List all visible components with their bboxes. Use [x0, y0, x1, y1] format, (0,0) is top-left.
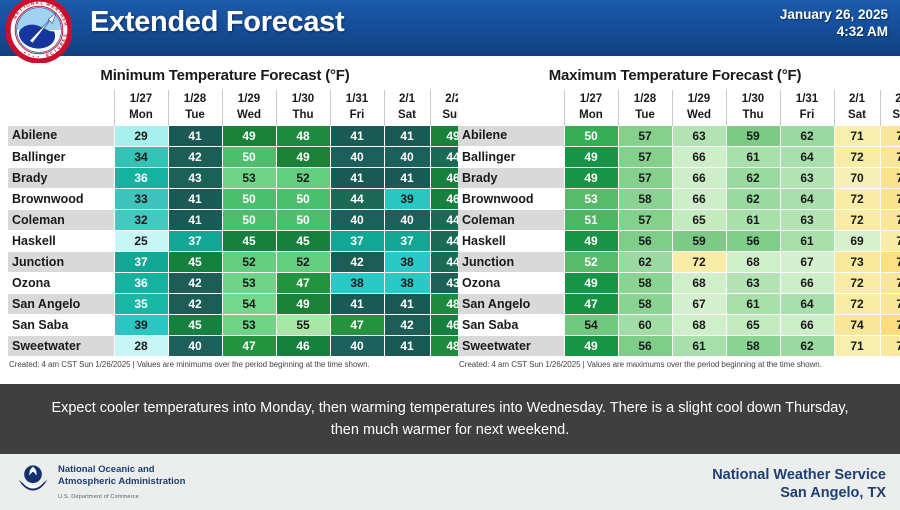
- temperature-cell: 49: [276, 294, 330, 315]
- temperature-cell: 66: [672, 147, 726, 168]
- temperature-cell: 56: [618, 231, 672, 252]
- column-header-day-1: Tue: [168, 107, 222, 126]
- temperature-cell: 68: [726, 252, 780, 273]
- temperature-cell: 25: [114, 231, 168, 252]
- temperature-cell: 45: [276, 231, 330, 252]
- panel-maximum-temperature: Maximum Temperature Forecast (°F) 1/271/…: [450, 58, 900, 384]
- column-header-location: [458, 90, 564, 107]
- temperature-cell: 42: [168, 273, 222, 294]
- table-row: Sweetwater49566158627173: [458, 336, 900, 357]
- forecast-summary-text: Expect cooler temperatures into Monday, …: [40, 397, 860, 441]
- temperature-cell: 75: [880, 294, 900, 315]
- temperature-cell: 73: [880, 336, 900, 357]
- temperature-cell: 72: [834, 147, 880, 168]
- temperature-cell: 53: [222, 273, 276, 294]
- column-header-location-spacer: [8, 107, 114, 126]
- temperature-cell: 63: [780, 168, 834, 189]
- temperature-cell: 37: [330, 231, 384, 252]
- temperature-cell: 75: [880, 273, 900, 294]
- temperature-cell: 41: [168, 210, 222, 231]
- nws-office-line-2: San Angelo, TX: [712, 484, 886, 502]
- temperature-cell: 41: [384, 126, 430, 147]
- temperature-cell: 72: [834, 189, 880, 210]
- column-header-day-4: Fri: [780, 107, 834, 126]
- temperature-cell: 42: [384, 315, 430, 336]
- temperature-cell: 64: [780, 147, 834, 168]
- table-row: Junction52627268677378: [458, 252, 900, 273]
- noaa-line-1: National Oceanic and: [58, 464, 185, 476]
- temperature-cell: 47: [564, 294, 618, 315]
- table-row: Abilene50576359627175: [458, 126, 900, 147]
- location-name: Ozona: [8, 273, 114, 294]
- temperature-cell: 69: [834, 231, 880, 252]
- temperature-cell: 49: [564, 168, 618, 189]
- temperature-cell: 79: [880, 315, 900, 336]
- panel-minimum-temperature: Minimum Temperature Forecast (°F) 1/271/…: [0, 58, 450, 384]
- temperature-cell: 29: [114, 126, 168, 147]
- column-header-day-3: Thu: [726, 107, 780, 126]
- temperature-cell: 41: [330, 294, 384, 315]
- table-row: Brady36435352414146: [8, 168, 476, 189]
- temperature-cell: 36: [114, 168, 168, 189]
- panel-title-maximum: Maximum Temperature Forecast (°F): [458, 67, 892, 84]
- temperature-cell: 68: [672, 273, 726, 294]
- temperature-cell: 76: [880, 189, 900, 210]
- table-row: San Saba39455355474246: [8, 315, 476, 336]
- column-header-day-0: Mon: [564, 107, 618, 126]
- column-header-location: [8, 90, 114, 107]
- temperature-cell: 49: [564, 231, 618, 252]
- column-header-date-5: 2/1: [384, 90, 430, 107]
- temperature-cell: 40: [168, 336, 222, 357]
- temperature-cell: 63: [726, 273, 780, 294]
- temperature-cell: 52: [276, 168, 330, 189]
- temperature-cell: 40: [384, 147, 430, 168]
- noaa-line-2: Atmospheric Administration: [58, 476, 185, 488]
- column-header-day-1: Tue: [618, 107, 672, 126]
- temperature-cell: 40: [330, 147, 384, 168]
- temperature-cell: 66: [780, 315, 834, 336]
- column-header-day-5: Sat: [384, 107, 430, 126]
- temperature-cell: 32: [114, 210, 168, 231]
- table-row: Ballinger34425049404044: [8, 147, 476, 168]
- temperature-cell: 40: [330, 210, 384, 231]
- table-head-minimum: 1/271/281/291/301/312/12/2 MonTueWedThuF…: [8, 90, 476, 126]
- temperature-cell: 62: [780, 126, 834, 147]
- location-name: Ballinger: [458, 147, 564, 168]
- temperature-cell: 76: [880, 168, 900, 189]
- temperature-cell: 72: [834, 273, 880, 294]
- temperature-cell: 38: [384, 252, 430, 273]
- temperature-cell: 37: [384, 231, 430, 252]
- temperature-cell: 47: [330, 315, 384, 336]
- temperature-cell: 58: [618, 189, 672, 210]
- temperature-cell: 62: [726, 168, 780, 189]
- nws-office-branding: National Weather Service San Angelo, TX: [712, 466, 886, 502]
- table-row: Abilene29414948414149: [8, 126, 476, 147]
- temperature-cell: 53: [222, 315, 276, 336]
- temperature-cell: 44: [330, 189, 384, 210]
- temperature-cell: 78: [880, 252, 900, 273]
- temperature-cell: 39: [114, 315, 168, 336]
- temperature-cell: 40: [384, 210, 430, 231]
- temperature-cell: 71: [834, 336, 880, 357]
- forecast-panels: Minimum Temperature Forecast (°F) 1/271/…: [0, 58, 900, 384]
- column-header-date-0: 1/27: [564, 90, 618, 107]
- temperature-cell: 63: [780, 210, 834, 231]
- temperature-cell: 56: [726, 231, 780, 252]
- nws-seal-icon: N A T I O N A L W E A T H E R S E R V I …: [6, 0, 72, 63]
- temperature-cell: 73: [834, 252, 880, 273]
- temperature-cell: 58: [618, 294, 672, 315]
- temperature-cell: 75: [880, 147, 900, 168]
- table-row: Brownwood53586662647276: [458, 189, 900, 210]
- temperature-cell: 49: [222, 126, 276, 147]
- temperature-cell: 57: [618, 147, 672, 168]
- column-header-date-6: 2/2: [880, 90, 900, 107]
- table-row: Ozona49586863667275: [458, 273, 900, 294]
- temperature-cell: 37: [114, 252, 168, 273]
- temperature-cell: 65: [672, 210, 726, 231]
- temperature-cell: 41: [330, 126, 384, 147]
- temperature-cell: 62: [726, 189, 780, 210]
- temperature-cell: 45: [168, 252, 222, 273]
- location-name: Brady: [458, 168, 564, 189]
- table-row: Ballinger49576661647275: [458, 147, 900, 168]
- temperature-cell: 58: [726, 336, 780, 357]
- temperature-cell: 50: [276, 210, 330, 231]
- location-name: Coleman: [458, 210, 564, 231]
- header-row-days: MonTueWedThuFriSatSun: [458, 107, 900, 126]
- temperature-cell: 50: [222, 147, 276, 168]
- temperature-cell: 45: [222, 231, 276, 252]
- column-header-day-2: Wed: [222, 107, 276, 126]
- column-header-date-2: 1/29: [222, 90, 276, 107]
- column-header-date-3: 1/30: [276, 90, 330, 107]
- temperature-cell: 56: [618, 336, 672, 357]
- table-row: Sweetwater28404746404148: [8, 336, 476, 357]
- temperature-cell: 61: [726, 210, 780, 231]
- table-row: Coleman51576561637275: [458, 210, 900, 231]
- temperature-cell: 28: [114, 336, 168, 357]
- location-name: Brownwood: [458, 189, 564, 210]
- location-name: Junction: [8, 252, 114, 273]
- header-row-days: MonTueWedThuFriSatSun: [8, 107, 476, 126]
- temperature-cell: 57: [618, 210, 672, 231]
- temperature-cell: 68: [672, 315, 726, 336]
- temperature-cell: 53: [222, 168, 276, 189]
- footnote-minimum: Created: 4 am CST Sun 1/26/2025 | Values…: [8, 360, 442, 369]
- table-row: Brownwood33415050443946: [8, 189, 476, 210]
- header-row-dates: 1/271/281/291/301/312/12/2: [458, 90, 900, 107]
- table-minimum-temperature: 1/271/281/291/301/312/12/2 MonTueWedThuF…: [8, 90, 477, 357]
- temperature-cell: 43: [168, 168, 222, 189]
- temperature-cell: 54: [564, 315, 618, 336]
- noaa-text-block: National Oceanic and Atmospheric Adminis…: [58, 462, 185, 503]
- temperature-cell: 49: [564, 336, 618, 357]
- table-head-maximum: 1/271/281/291/301/312/12/2 MonTueWedThuF…: [458, 90, 900, 126]
- temperature-cell: 55: [276, 315, 330, 336]
- temperature-cell: 53: [564, 189, 618, 210]
- table-row: Brady49576662637076: [458, 168, 900, 189]
- temperature-cell: 49: [564, 147, 618, 168]
- location-name: Brownwood: [8, 189, 114, 210]
- temperature-cell: 50: [276, 189, 330, 210]
- temperature-cell: 33: [114, 189, 168, 210]
- temperature-cell: 47: [222, 336, 276, 357]
- temperature-cell: 74: [834, 315, 880, 336]
- location-name: Ozona: [458, 273, 564, 294]
- temperature-cell: 52: [222, 252, 276, 273]
- temperature-cell: 66: [672, 189, 726, 210]
- table-row: San Saba54606865667479: [458, 315, 900, 336]
- temperature-cell: 41: [384, 336, 430, 357]
- table-row: Junction37455252423844: [8, 252, 476, 273]
- location-name: Haskell: [458, 231, 564, 252]
- temperature-cell: 42: [168, 294, 222, 315]
- temperature-cell: 41: [384, 168, 430, 189]
- temperature-cell: 63: [672, 126, 726, 147]
- location-name: Sweetwater: [458, 336, 564, 357]
- temperature-cell: 67: [672, 294, 726, 315]
- temperature-cell: 42: [330, 252, 384, 273]
- header-row-dates: 1/271/281/291/301/312/12/2: [8, 90, 476, 107]
- temperature-cell: 66: [672, 168, 726, 189]
- temperature-cell: 50: [564, 126, 618, 147]
- temperature-cell: 52: [276, 252, 330, 273]
- temperature-cell: 72: [880, 231, 900, 252]
- temperature-cell: 51: [564, 210, 618, 231]
- table-body-maximum: Abilene50576359627175Ballinger4957666164…: [458, 126, 900, 357]
- temperature-cell: 75: [880, 126, 900, 147]
- temperature-cell: 38: [330, 273, 384, 294]
- column-header-date-5: 2/1: [834, 90, 880, 107]
- noaa-branding: National Oceanic and Atmospheric Adminis…: [16, 462, 185, 503]
- temperature-cell: 65: [726, 315, 780, 336]
- temperature-cell: 39: [384, 189, 430, 210]
- panel-title-minimum: Minimum Temperature Forecast (°F): [8, 67, 442, 84]
- temperature-cell: 54: [222, 294, 276, 315]
- table-row: Haskell25374545373744: [8, 231, 476, 252]
- forecast-summary-bar: Expect cooler temperatures into Monday, …: [0, 384, 900, 454]
- temperature-cell: 61: [726, 294, 780, 315]
- temperature-cell: 52: [564, 252, 618, 273]
- temperature-cell: 71: [834, 126, 880, 147]
- temperature-cell: 41: [168, 126, 222, 147]
- location-name: Abilene: [8, 126, 114, 147]
- column-header-location-spacer: [458, 107, 564, 126]
- header-time-text: 4:32 AM: [780, 23, 888, 40]
- temperature-cell: 36: [114, 273, 168, 294]
- temperature-cell: 59: [672, 231, 726, 252]
- temperature-cell: 57: [618, 168, 672, 189]
- table-row: Ozona36425347383843: [8, 273, 476, 294]
- temperature-cell: 64: [780, 189, 834, 210]
- table-maximum-temperature: 1/271/281/291/301/312/12/2 MonTueWedThuF…: [458, 90, 900, 357]
- location-name: San Saba: [458, 315, 564, 336]
- temperature-cell: 42: [168, 147, 222, 168]
- column-header-date-3: 1/30: [726, 90, 780, 107]
- table-row: San Angelo47586761647275: [458, 294, 900, 315]
- column-header-day-0: Mon: [114, 107, 168, 126]
- temperature-cell: 41: [168, 189, 222, 210]
- temperature-cell: 62: [618, 252, 672, 273]
- table-body-minimum: Abilene29414948414149Ballinger3442504940…: [8, 126, 476, 357]
- page-footer: National Oceanic and Atmospheric Adminis…: [0, 454, 900, 510]
- temperature-cell: 57: [618, 126, 672, 147]
- column-header-day-3: Thu: [276, 107, 330, 126]
- column-header-day-4: Fri: [330, 107, 384, 126]
- location-name: San Angelo: [8, 294, 114, 315]
- temperature-cell: 41: [384, 294, 430, 315]
- header-timestamp: January 26, 2025 4:32 AM: [780, 6, 888, 40]
- temperature-cell: 35: [114, 294, 168, 315]
- column-header-day-6: Sun: [880, 107, 900, 126]
- temperature-cell: 49: [276, 147, 330, 168]
- location-name: Coleman: [8, 210, 114, 231]
- location-name: Brady: [8, 168, 114, 189]
- temperature-cell: 72: [834, 294, 880, 315]
- column-header-date-0: 1/27: [114, 90, 168, 107]
- location-name: Sweetwater: [8, 336, 114, 357]
- location-name: Junction: [458, 252, 564, 273]
- header-date-text: January 26, 2025: [780, 6, 888, 23]
- temperature-cell: 38: [384, 273, 430, 294]
- column-header-date-2: 1/29: [672, 90, 726, 107]
- location-name: Ballinger: [8, 147, 114, 168]
- location-name: Abilene: [458, 126, 564, 147]
- location-name: San Angelo: [458, 294, 564, 315]
- footnote-maximum: Created: 4 am CST Sun 1/26/2025 | Values…: [458, 360, 892, 369]
- location-name: Haskell: [8, 231, 114, 252]
- temperature-cell: 66: [780, 273, 834, 294]
- temperature-cell: 60: [618, 315, 672, 336]
- temperature-cell: 58: [618, 273, 672, 294]
- noaa-subline: U.S. Department of Commerce: [58, 488, 185, 503]
- temperature-cell: 62: [780, 336, 834, 357]
- temperature-cell: 48: [276, 126, 330, 147]
- temperature-cell: 50: [222, 189, 276, 210]
- location-name: San Saba: [8, 315, 114, 336]
- temperature-cell: 34: [114, 147, 168, 168]
- temperature-cell: 72: [834, 210, 880, 231]
- nws-office-line-1: National Weather Service: [712, 466, 886, 484]
- temperature-cell: 47: [276, 273, 330, 294]
- temperature-cell: 61: [780, 231, 834, 252]
- temperature-cell: 59: [726, 126, 780, 147]
- temperature-cell: 70: [834, 168, 880, 189]
- column-header-date-1: 1/28: [618, 90, 672, 107]
- page-title: Extended Forecast: [90, 6, 344, 39]
- table-row: Haskell49565956616972: [458, 231, 900, 252]
- temperature-cell: 64: [780, 294, 834, 315]
- temperature-cell: 46: [276, 336, 330, 357]
- temperature-cell: 72: [672, 252, 726, 273]
- temperature-cell: 41: [330, 168, 384, 189]
- column-header-day-5: Sat: [834, 107, 880, 126]
- temperature-cell: 37: [168, 231, 222, 252]
- temperature-cell: 61: [726, 147, 780, 168]
- temperature-cell: 75: [880, 210, 900, 231]
- temperature-cell: 49: [564, 273, 618, 294]
- temperature-cell: 40: [330, 336, 384, 357]
- table-row: Coleman32415050404044: [8, 210, 476, 231]
- column-header-date-1: 1/28: [168, 90, 222, 107]
- temperature-cell: 50: [222, 210, 276, 231]
- column-header-date-4: 1/31: [780, 90, 834, 107]
- page-header: N A T I O N A L W E A T H E R S E R V I …: [0, 0, 900, 58]
- noaa-seal-icon: [16, 462, 50, 496]
- temperature-cell: 61: [672, 336, 726, 357]
- column-header-date-4: 1/31: [330, 90, 384, 107]
- temperature-cell: 67: [780, 252, 834, 273]
- temperature-cell: 45: [168, 315, 222, 336]
- column-header-day-2: Wed: [672, 107, 726, 126]
- table-row: San Angelo35425449414148: [8, 294, 476, 315]
